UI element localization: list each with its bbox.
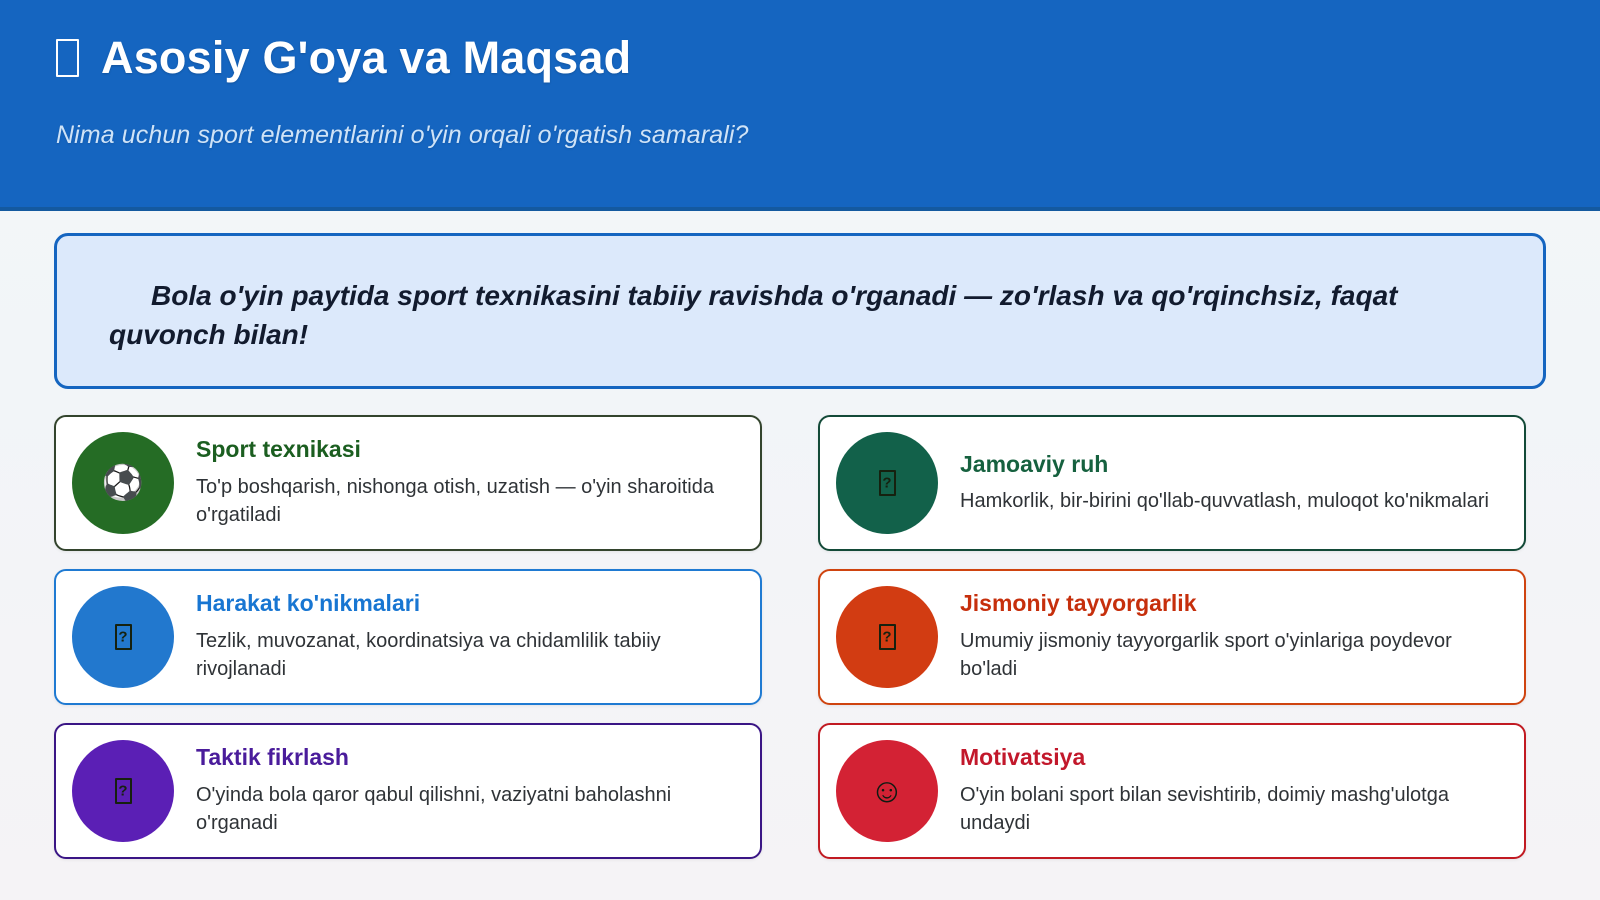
soccer-ball-glyph: ⚽ xyxy=(102,466,144,500)
concept-card[interactable]: ⚽ Sport texnikasi To'p boshqarish, nisho… xyxy=(54,415,762,551)
card-title: Sport texnikasi xyxy=(196,436,738,464)
highlight-quote-box: Bola o'yin paytida sport texnikasini tab… xyxy=(54,233,1546,389)
concept-card[interactable]: ☺ Motivatsiya O'yin bolani sport bilan s… xyxy=(818,723,1526,859)
card-description: O'yinda bola qaror qabul qilishni, vaziy… xyxy=(196,781,738,838)
card-title: Motivatsiya xyxy=(960,744,1502,772)
card-title: Jismoniy tayyorgarlik xyxy=(960,590,1502,618)
missing-glyph-box-icon xyxy=(115,778,132,804)
missing-glyph-box-icon xyxy=(115,624,132,650)
concept-card[interactable]: Jamoaviy ruh Hamkorlik, bir-birini qo'll… xyxy=(818,415,1526,551)
concept-card-grid: ⚽ Sport texnikasi To'p boshqarish, nisho… xyxy=(54,415,1546,859)
card-body: Jamoaviy ruh Hamkorlik, bir-birini qo'll… xyxy=(960,451,1508,516)
card-body: Harakat ko'nikmalari Tezlik, muvozanat, … xyxy=(196,590,744,683)
missing-glyph-box-icon xyxy=(56,39,79,77)
card-title: Harakat ko'nikmalari xyxy=(196,590,738,618)
soccer-ball-icon: ⚽ xyxy=(72,432,174,534)
page-title: Asosiy G'oya va Maqsad xyxy=(56,30,1600,86)
missing-glyph-icon xyxy=(72,740,174,842)
card-description: Umumiy jismoniy tayyorgarlik sport o'yin… xyxy=(960,627,1502,684)
concept-card[interactable]: Taktik fikrlash O'yinda bola qaror qabul… xyxy=(54,723,762,859)
card-description: To'p boshqarish, nishonga otish, uzatish… xyxy=(196,473,738,530)
missing-glyph-icon xyxy=(836,586,938,688)
card-title: Jamoaviy ruh xyxy=(960,451,1502,479)
card-title: Taktik fikrlash xyxy=(196,744,738,772)
page-header: Asosiy G'oya va Maqsad Nima uchun sport … xyxy=(0,0,1600,211)
missing-glyph-box-icon xyxy=(879,470,896,496)
page-subtitle: Nima uchun sport elementlarini o'yin orq… xyxy=(56,121,1600,150)
page-title-text: Asosiy G'oya va Maqsad xyxy=(101,30,631,86)
concept-card[interactable]: Jismoniy tayyorgarlik Umumiy jismoniy ta… xyxy=(818,569,1526,705)
missing-glyph-icon xyxy=(836,432,938,534)
missing-glyph-icon xyxy=(72,586,174,688)
card-body: Motivatsiya O'yin bolani sport bilan sev… xyxy=(960,744,1508,837)
slide-root: Asosiy G'oya va Maqsad Nima uchun sport … xyxy=(0,0,1600,900)
card-description: Tezlik, muvozanat, koordinatsiya va chid… xyxy=(196,627,738,684)
concept-card[interactable]: Harakat ko'nikmalari Tezlik, muvozanat, … xyxy=(54,569,762,705)
missing-glyph-box-icon xyxy=(879,624,896,650)
card-body: Jismoniy tayyorgarlik Umumiy jismoniy ta… xyxy=(960,590,1508,683)
smiley-face-glyph: ☺ xyxy=(870,774,905,808)
card-description: Hamkorlik, bir-birini qo'llab-quvvatlash… xyxy=(960,487,1502,515)
card-description: O'yin bolani sport bilan sevishtirib, do… xyxy=(960,781,1502,838)
card-body: Taktik fikrlash O'yinda bola qaror qabul… xyxy=(196,744,744,837)
smiley-face-icon: ☺ xyxy=(836,740,938,842)
highlight-quote-text: Bola o'yin paytida sport texnikasini tab… xyxy=(109,276,1509,354)
card-body: Sport texnikasi To'p boshqarish, nishong… xyxy=(196,436,744,529)
